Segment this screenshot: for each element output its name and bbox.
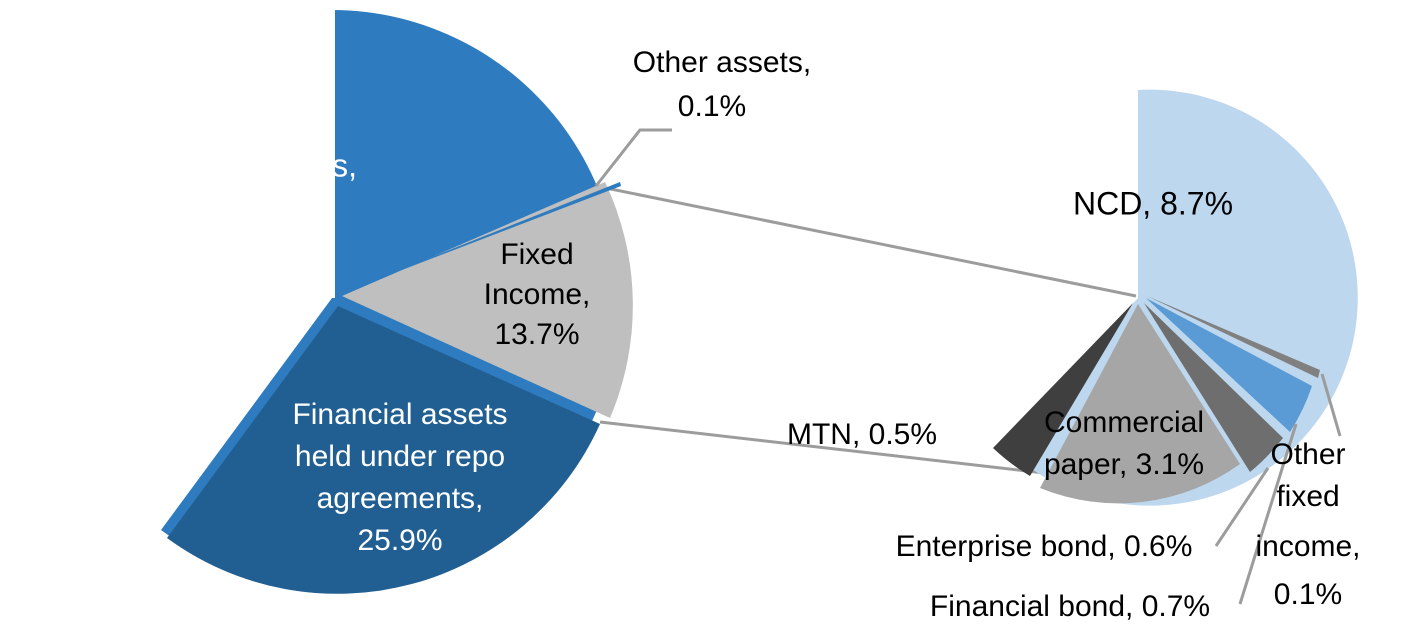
label-fixed-income-line1: Fixed [500, 238, 573, 271]
label-commercial-paper-line2: paper, 3.1% [1044, 448, 1204, 481]
label-ncd: NCD, 8.7% [1073, 185, 1233, 221]
label-repo-line2: held under repo [295, 440, 505, 473]
pie-of-pie-chart: Bank deposits, 60.3% Fixed Income, 13.7%… [0, 0, 1404, 644]
label-other-assets-line2: 0.1% [678, 90, 746, 123]
label-bank-deposits-line2: 60.3% [177, 187, 268, 223]
callout-line-other-assets [596, 130, 672, 186]
label-commercial-paper-line1: Commercial [1044, 406, 1204, 439]
label-other-fixed-income-line3: income, [1255, 530, 1360, 563]
label-repo-line3: agreements, [317, 482, 484, 515]
label-mtn: MTN, 0.5% [787, 418, 937, 451]
label-other-assets-line1: Other assets, [633, 46, 811, 79]
label-financial-bond: Financial bond, 0.7% [930, 590, 1210, 623]
label-fixed-income-line2: Income, [484, 278, 591, 311]
connector-line-upper [596, 186, 1136, 296]
label-repo-line1: Financial assets [292, 398, 507, 431]
label-repo-line4: 25.9% [357, 524, 442, 557]
label-fixed-income-line3: 13.7% [494, 318, 579, 351]
label-other-fixed-income-line4: 0.1% [1274, 578, 1342, 611]
label-bank-deposits-line1: Bank deposits, [147, 147, 357, 183]
label-other-fixed-income-line2: fixed [1276, 480, 1339, 513]
chart-canvas: Bank deposits, 60.3% Fixed Income, 13.7%… [0, 0, 1404, 644]
label-other-fixed-income-line1: Other [1270, 438, 1345, 471]
label-enterprise-bond: Enterprise bond, 0.6% [896, 530, 1193, 563]
